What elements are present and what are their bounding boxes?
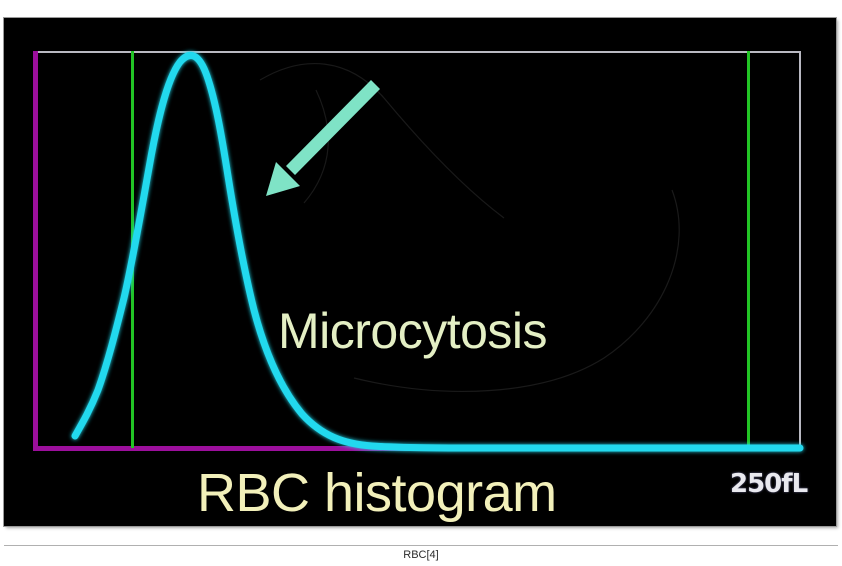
annotation-chart-title: RBC histogram: [197, 466, 557, 520]
arrow-down-left-icon: [266, 80, 380, 196]
annotation-microcytosis: Microcytosis: [278, 306, 547, 356]
caption-divider: [4, 545, 838, 546]
rbc-histogram-image: Microcytosis RBC histogram 250fL: [4, 18, 836, 526]
figure-page: Microcytosis RBC histogram 250fL RBC[4]: [0, 0, 842, 566]
rbc-distribution-curve: [75, 55, 800, 448]
annotation-scale-label: 250fL: [730, 471, 807, 497]
figure-caption: RBC[4]: [0, 549, 842, 561]
histogram-curve-svg: [4, 18, 836, 526]
